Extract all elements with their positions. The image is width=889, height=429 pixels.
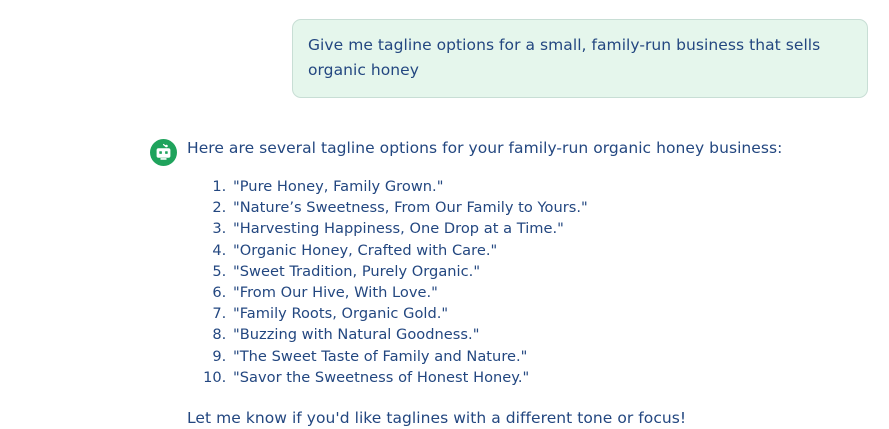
list-item: "From Our Hive, With Love." xyxy=(231,282,782,303)
list-item: "The Sweet Taste of Family and Nature." xyxy=(231,346,782,367)
chat-conversation: Give me tagline options for a small, fam… xyxy=(0,0,889,422)
user-message-bubble: Give me tagline options for a small, fam… xyxy=(292,19,868,98)
list-item: "Savor the Sweetness of Honest Honey." xyxy=(231,367,782,388)
assistant-message-row: Here are several tagline options for you… xyxy=(0,98,889,429)
user-message-row: Give me tagline options for a small, fam… xyxy=(0,0,889,98)
list-item: "Organic Honey, Crafted with Care." xyxy=(231,240,782,261)
robot-avatar-icon xyxy=(150,139,177,166)
list-item: "Family Roots, Organic Gold." xyxy=(231,303,782,324)
assistant-outro-text: Let me know if you'd like taglines with … xyxy=(187,408,782,429)
list-item: "Sweet Tradition, Purely Organic." xyxy=(231,261,782,282)
assistant-message-body: Here are several tagline options for you… xyxy=(187,138,782,429)
list-item: "Harvesting Happiness, One Drop at a Tim… xyxy=(231,218,782,239)
list-item: "Nature’s Sweetness, From Our Family to … xyxy=(231,197,782,218)
list-item: "Buzzing with Natural Goodness." xyxy=(231,324,782,345)
assistant-intro-text: Here are several tagline options for you… xyxy=(187,138,782,159)
tagline-list: "Pure Honey, Family Grown." "Nature’s Sw… xyxy=(187,176,782,388)
list-item: "Pure Honey, Family Grown." xyxy=(231,176,782,197)
